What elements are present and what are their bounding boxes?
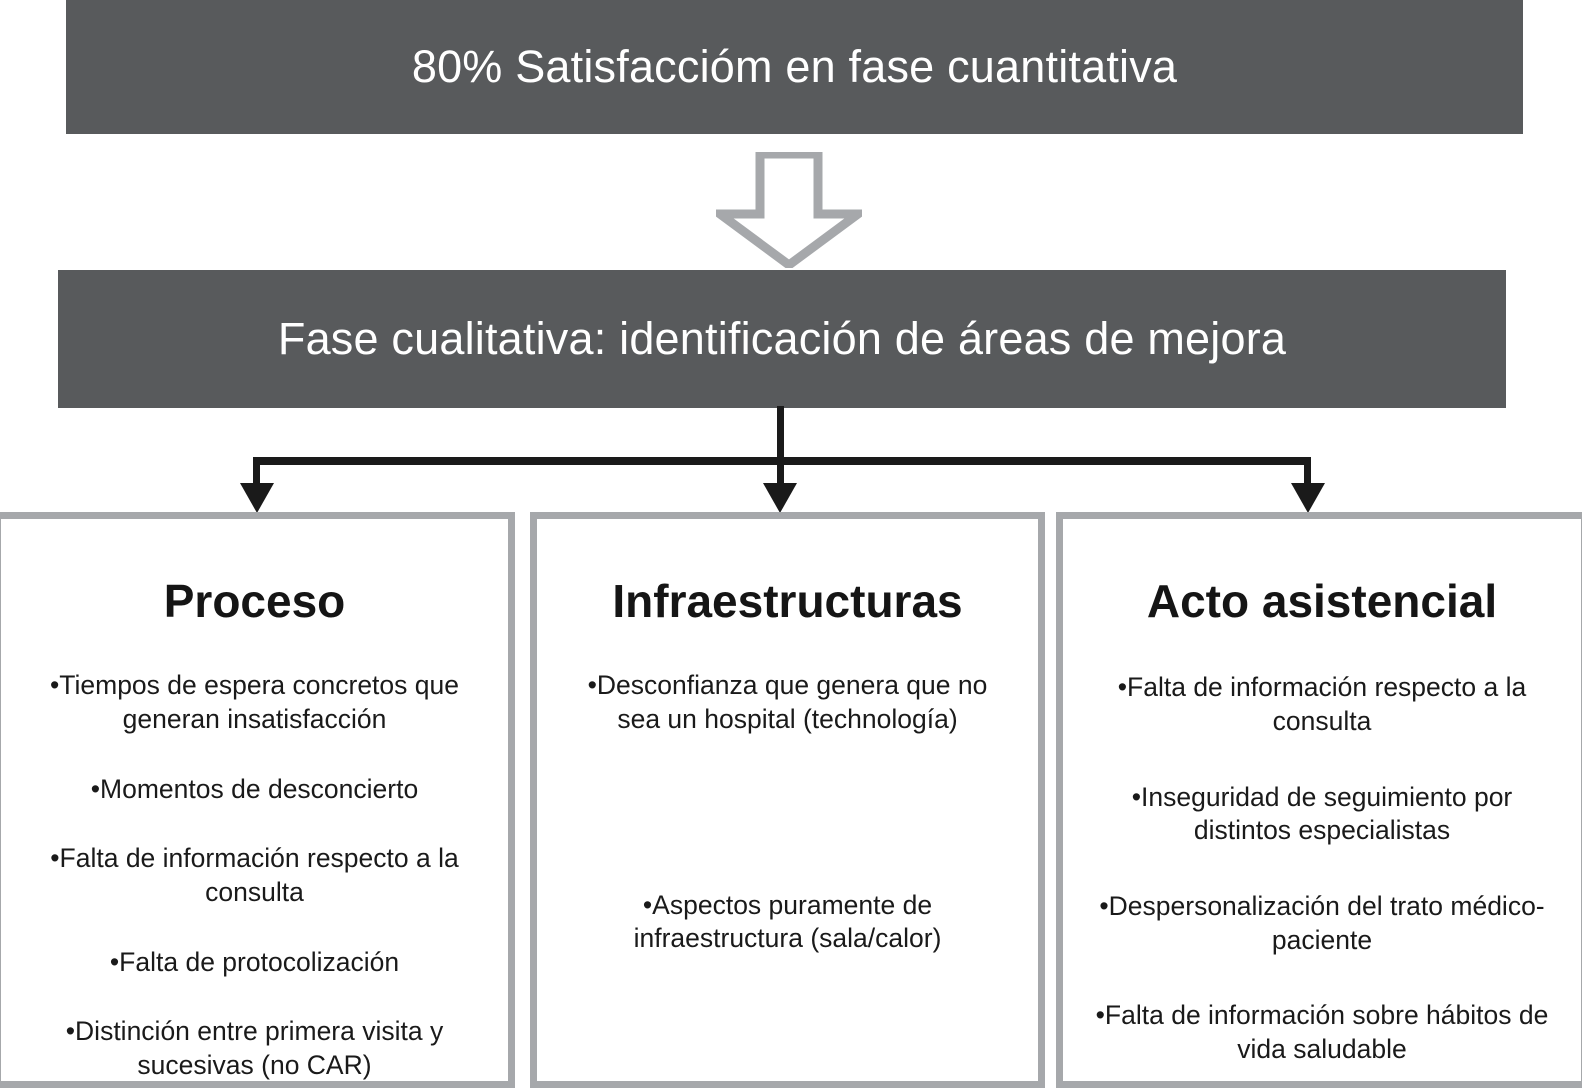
category-title: Proceso <box>11 577 498 625</box>
top-summary-text: 80% Satisfaccióm en fase cuantitativa <box>412 41 1177 93</box>
list-item: •Falta de protocolización <box>11 946 498 980</box>
list-spacer <box>547 773 1028 889</box>
qualitative-phase-band: Fase cualitativa: identificación de área… <box>58 270 1506 408</box>
category-box-acto-asistencial: Acto asistencial •Falta de información r… <box>1056 512 1582 1088</box>
category-bullet-list: •Tiempos de espera concretos que generan… <box>11 669 498 1082</box>
list-item: •Desconfianza que genera que no sea un h… <box>547 669 1028 736</box>
category-bullet-list: •Falta de información respecto a la cons… <box>1073 671 1571 1066</box>
category-box-proceso: Proceso •Tiempos de espera concretos que… <box>0 512 515 1088</box>
qualitative-phase-text: Fase cualitativa: identificación de área… <box>278 313 1286 365</box>
list-item: •Aspectos puramente de infraestructura (… <box>547 889 1028 956</box>
list-item: •Distinción entre primera visita y suces… <box>11 1015 498 1082</box>
category-bullet-list: •Desconfianza que genera que no sea un h… <box>547 669 1028 956</box>
top-summary-band: 80% Satisfaccióm en fase cuantitativa <box>66 0 1523 134</box>
list-item: •Despersonalización del trato médico-pac… <box>1073 890 1571 957</box>
list-item: •Tiempos de espera concretos que generan… <box>11 669 498 736</box>
category-box-infraestructuras: Infraestructuras •Desconfianza que gener… <box>530 512 1045 1088</box>
branch-connector-icon <box>0 400 1582 525</box>
list-item: •Momentos de desconcierto <box>11 773 498 807</box>
category-title: Infraestructuras <box>547 577 1028 625</box>
list-item: •Falta de información respecto a la cons… <box>1073 671 1571 738</box>
hollow-down-arrow-icon <box>716 152 862 268</box>
list-item: •Inseguridad de seguimiento por distinto… <box>1073 781 1571 848</box>
list-item: •Falta de información respecto a la cons… <box>11 842 498 909</box>
category-title: Acto asistencial <box>1073 577 1571 625</box>
list-item: •Falta de información sobre hábitos de v… <box>1073 999 1571 1066</box>
